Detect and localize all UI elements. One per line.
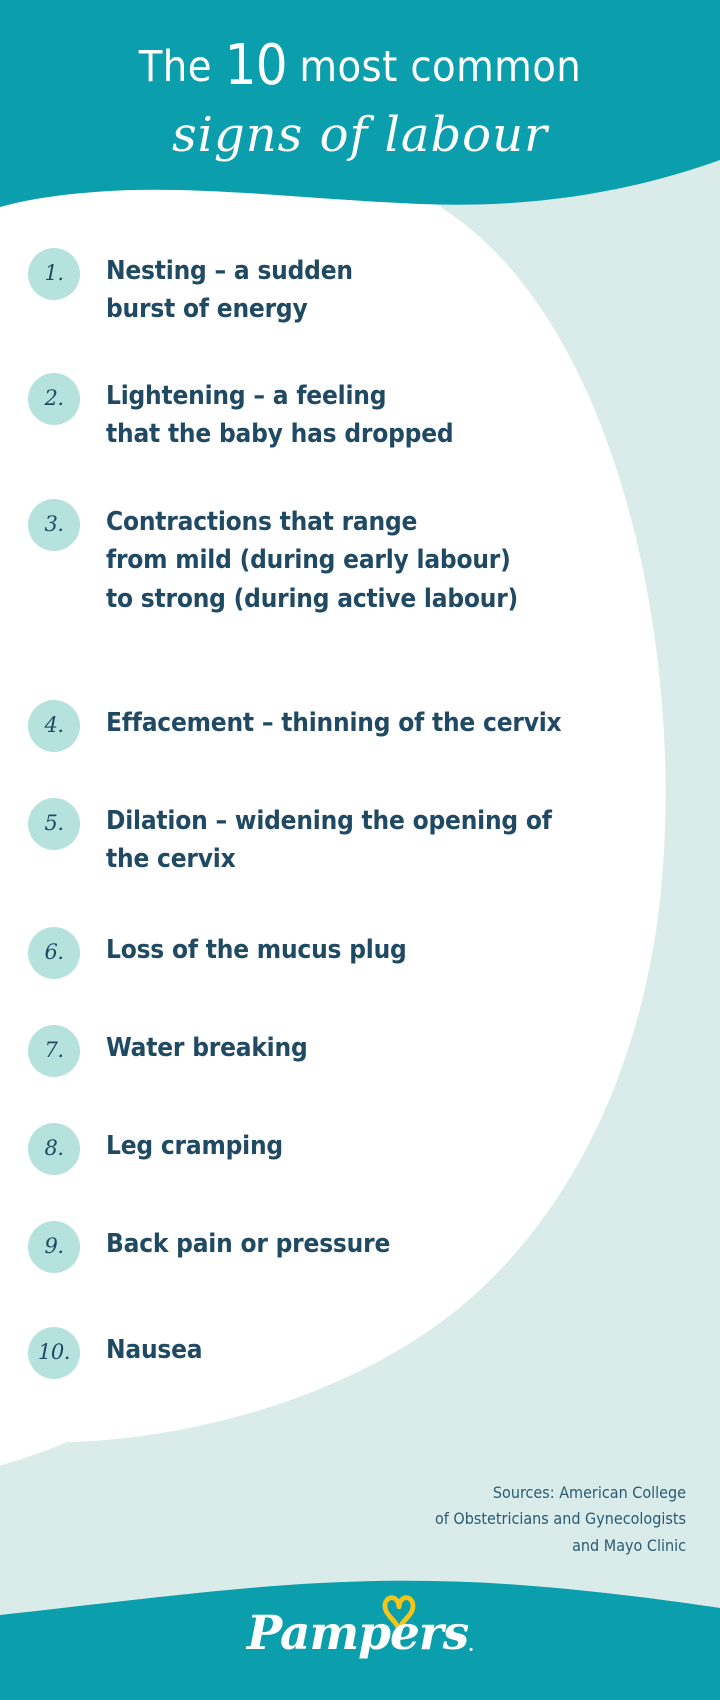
list-item-number-badge: 10. xyxy=(28,1327,80,1379)
sources-line-3: and Mayo Clinic xyxy=(266,1533,686,1559)
brand-name: Pampers xyxy=(247,1606,468,1661)
sources-block: Sources: American College of Obstetricia… xyxy=(266,1480,686,1559)
list-item-number-badge: 6. xyxy=(28,927,80,979)
list-item-label: Back pain or pressure xyxy=(106,1221,390,1263)
list-item-number-badge: 5. xyxy=(28,798,80,850)
list-item: 9. Back pain or pressure xyxy=(28,1221,390,1273)
list-item-label: Lightening – a feeling that the baby has… xyxy=(106,373,453,454)
list-item: 2. Lightening – a feeling that the baby … xyxy=(28,373,453,454)
list-item-label: Nausea xyxy=(106,1327,202,1369)
list-item-number-badge: 1. xyxy=(28,248,80,300)
list-item-number-badge: 9. xyxy=(28,1221,80,1273)
sources-line-2: of Obstetricians and Gynecologists xyxy=(266,1506,686,1532)
list-item-label: Leg cramping xyxy=(106,1123,283,1165)
sources-line-1: Sources: American College xyxy=(266,1480,686,1506)
list-item-number-badge: 7. xyxy=(28,1025,80,1077)
list-item-number-badge: 4. xyxy=(28,700,80,752)
list-item: 7. Water breaking xyxy=(28,1025,308,1077)
pampers-logo: Pampers. xyxy=(230,1596,490,1682)
list-item-number-badge: 8. xyxy=(28,1123,80,1175)
registered-mark: . xyxy=(468,1636,473,1656)
list-item-label: Contractions that range from mild (durin… xyxy=(106,499,518,618)
list-item-number-badge: 3. xyxy=(28,499,80,551)
list-item-label: Nesting – a sudden burst of energy xyxy=(106,248,353,329)
list-item: 6. Loss of the mucus plug xyxy=(28,927,407,979)
list-item: 3. Contractions that range from mild (du… xyxy=(28,499,518,618)
list-item: 10. Nausea xyxy=(28,1327,202,1379)
brand-wordmark: Pampers. xyxy=(230,1610,490,1657)
header-teal-band xyxy=(0,0,720,207)
list-item-label: Dilation – widening the opening of the c… xyxy=(106,798,552,879)
list-item: 5. Dilation – widening the opening of th… xyxy=(28,798,552,879)
list-item: 4. Effacement – thinning of the cervix xyxy=(28,700,561,752)
list-item-number-badge: 2. xyxy=(28,373,80,425)
footer: Pampers. xyxy=(0,1596,720,1682)
list-item-label: Water breaking xyxy=(106,1025,308,1067)
list-item: 8. Leg cramping xyxy=(28,1123,283,1175)
list-item: 1. Nesting – a sudden burst of energy xyxy=(28,248,353,329)
list-item-label: Effacement – thinning of the cervix xyxy=(106,700,561,742)
list-item-label: Loss of the mucus plug xyxy=(106,927,407,969)
infographic-root: The 10 most common signs of labour 1. Ne… xyxy=(0,0,720,1700)
